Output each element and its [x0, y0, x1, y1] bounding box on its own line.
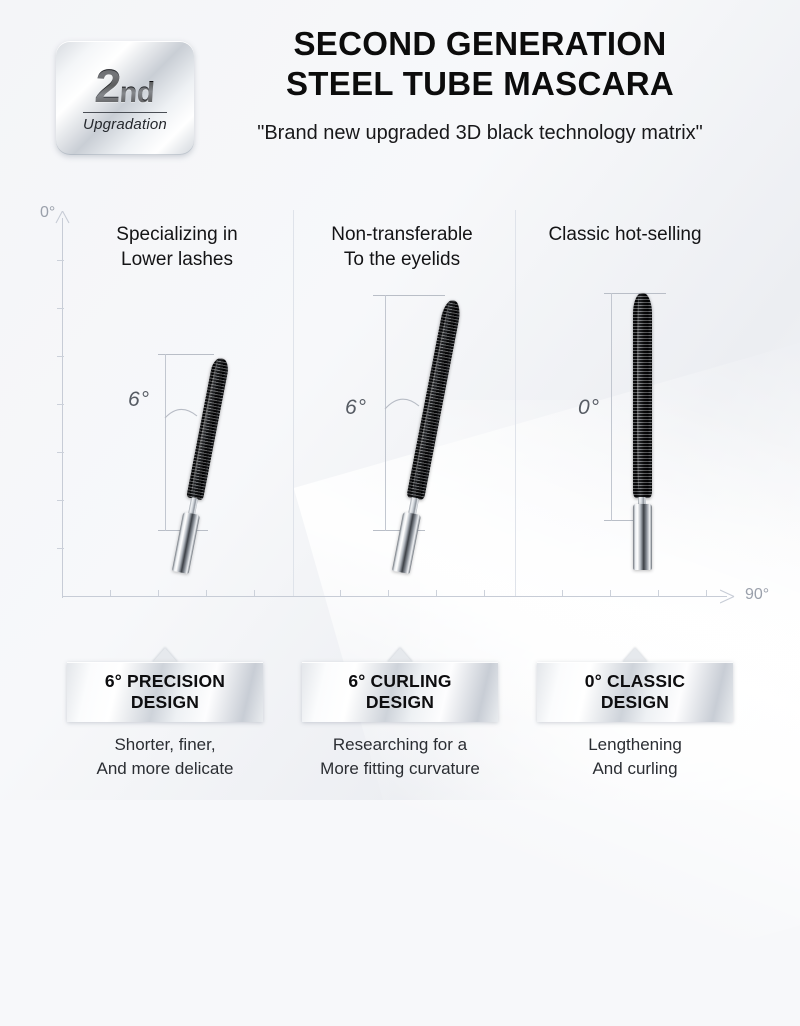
- page-title: SECOND GENERATION STEEL TUBE MASCARA: [200, 24, 760, 105]
- x-axis-arrow-icon: [720, 589, 736, 604]
- y-axis-tick: [57, 308, 64, 309]
- column-header-2: Non-transferable To the eyelids: [292, 222, 512, 272]
- column-header-1: Specializing in Lower lashes: [67, 222, 287, 272]
- y-axis-line: [62, 218, 63, 598]
- banner-notch-3: [622, 648, 648, 663]
- caption-1-line-1: Shorter, finer,: [45, 733, 285, 757]
- wand-handle-3: [633, 504, 652, 570]
- wand-brush-3: [633, 293, 652, 498]
- design-banner-1-line-2: DESIGN: [131, 692, 199, 712]
- banner-notch-1: [152, 648, 178, 663]
- x-axis-tick: [610, 590, 611, 596]
- design-banner-3-text: 0° CLASSICDESIGN: [585, 671, 685, 714]
- design-banner-1-text: 6° PRECISIONDESIGN: [105, 671, 225, 714]
- mascara-wand-1: [170, 355, 238, 538]
- x-axis-tick: [484, 590, 485, 596]
- panel-divider: [515, 210, 516, 596]
- design-banner-3-line-2: DESIGN: [601, 692, 669, 712]
- angle-label-1: 6°: [128, 388, 150, 412]
- x-axis-tick: [436, 590, 437, 596]
- caption-2: Researching for a More fitting curvature: [280, 733, 520, 781]
- badge-subtitle: Upgradation: [83, 116, 167, 133]
- caption-2-line-2: More fitting curvature: [280, 757, 520, 781]
- caption-3: Lengthening And curling: [515, 733, 755, 781]
- mascara-wand-3: [624, 293, 660, 535]
- caption-2-line-1: Researching for a: [280, 733, 520, 757]
- design-banner-2-line-2: DESIGN: [366, 692, 434, 712]
- x-axis-tick: [158, 590, 159, 596]
- caption-3-line-2: And curling: [515, 757, 755, 781]
- x-axis-tick: [340, 590, 341, 596]
- badge-ordinal-suffix: nd: [119, 77, 156, 109]
- second-generation-badge: 2nd Upgradation: [56, 41, 194, 155]
- vertical-reference-line-1: [165, 354, 166, 531]
- design-banner-3-line-1: 0° CLASSIC: [585, 671, 685, 691]
- x-axis-tick: [706, 590, 707, 596]
- y-axis-tick: [57, 260, 64, 261]
- measure-line-top-2: [373, 295, 445, 296]
- design-banner-1: 6° PRECISIONDESIGN: [67, 662, 263, 722]
- page-subtitle: "Brand new upgraded 3D black technology …: [180, 122, 780, 145]
- y-axis-tick: [57, 500, 64, 501]
- y-axis-tick: [57, 404, 64, 405]
- vertical-reference-line-3: [611, 293, 612, 521]
- mascara-wand-2: [390, 297, 471, 538]
- caption-1-line-2: And more delicate: [45, 757, 285, 781]
- banner-notch-2: [387, 648, 413, 663]
- title-line-1: SECOND GENERATION: [200, 24, 760, 64]
- column-header-3: Classic hot-selling: [515, 222, 735, 247]
- wand-handle-1: [172, 512, 200, 574]
- badge-divider: [83, 112, 167, 113]
- column-header-2-line-2: To the eyelids: [292, 247, 512, 272]
- infographic-canvas: 2nd Upgradation SECOND GENERATION STEEL …: [0, 0, 800, 800]
- x-axis-tick: [658, 590, 659, 596]
- x-axis-tick: [388, 590, 389, 596]
- y-axis-label: 0°: [40, 204, 55, 222]
- x-axis-tick: [562, 590, 563, 596]
- angle-comparison-chart: 0° 90° Specializing in: [0, 200, 800, 610]
- column-header-2-line-1: Non-transferable: [292, 222, 512, 247]
- design-banner-2-text: 6° CURLINGDESIGN: [348, 671, 451, 714]
- x-axis-line: [62, 596, 727, 597]
- vertical-reference-line-2: [385, 295, 386, 531]
- caption-3-line-1: Lengthening: [515, 733, 755, 757]
- angle-label-3: 0°: [578, 396, 600, 420]
- x-axis-tick: [206, 590, 207, 596]
- y-axis-tick: [57, 548, 64, 549]
- y-axis-tick: [57, 452, 64, 453]
- y-axis-tick: [57, 356, 64, 357]
- wand-handle-2: [392, 512, 421, 574]
- design-banner-2: 6° CURLINGDESIGN: [302, 662, 498, 722]
- x-axis-label: 90°: [745, 586, 769, 604]
- design-banner-1-line-1: 6° PRECISION: [105, 671, 225, 691]
- x-axis-tick: [254, 590, 255, 596]
- design-banner-3: 0° CLASSICDESIGN: [537, 662, 733, 722]
- badge-number: 2nd: [94, 63, 157, 108]
- column-header-1-line-1: Specializing in: [67, 222, 287, 247]
- column-header-3-line-1: Classic hot-selling: [515, 222, 735, 247]
- angle-label-2: 6°: [345, 396, 367, 420]
- wand-brush-1: [186, 357, 230, 501]
- column-header-1-line-2: Lower lashes: [67, 247, 287, 272]
- design-banner-2-line-1: 6° CURLING: [348, 671, 451, 691]
- title-line-2: STEEL TUBE MASCARA: [200, 64, 760, 104]
- x-axis-tick: [110, 590, 111, 596]
- caption-1: Shorter, finer, And more delicate: [45, 733, 285, 781]
